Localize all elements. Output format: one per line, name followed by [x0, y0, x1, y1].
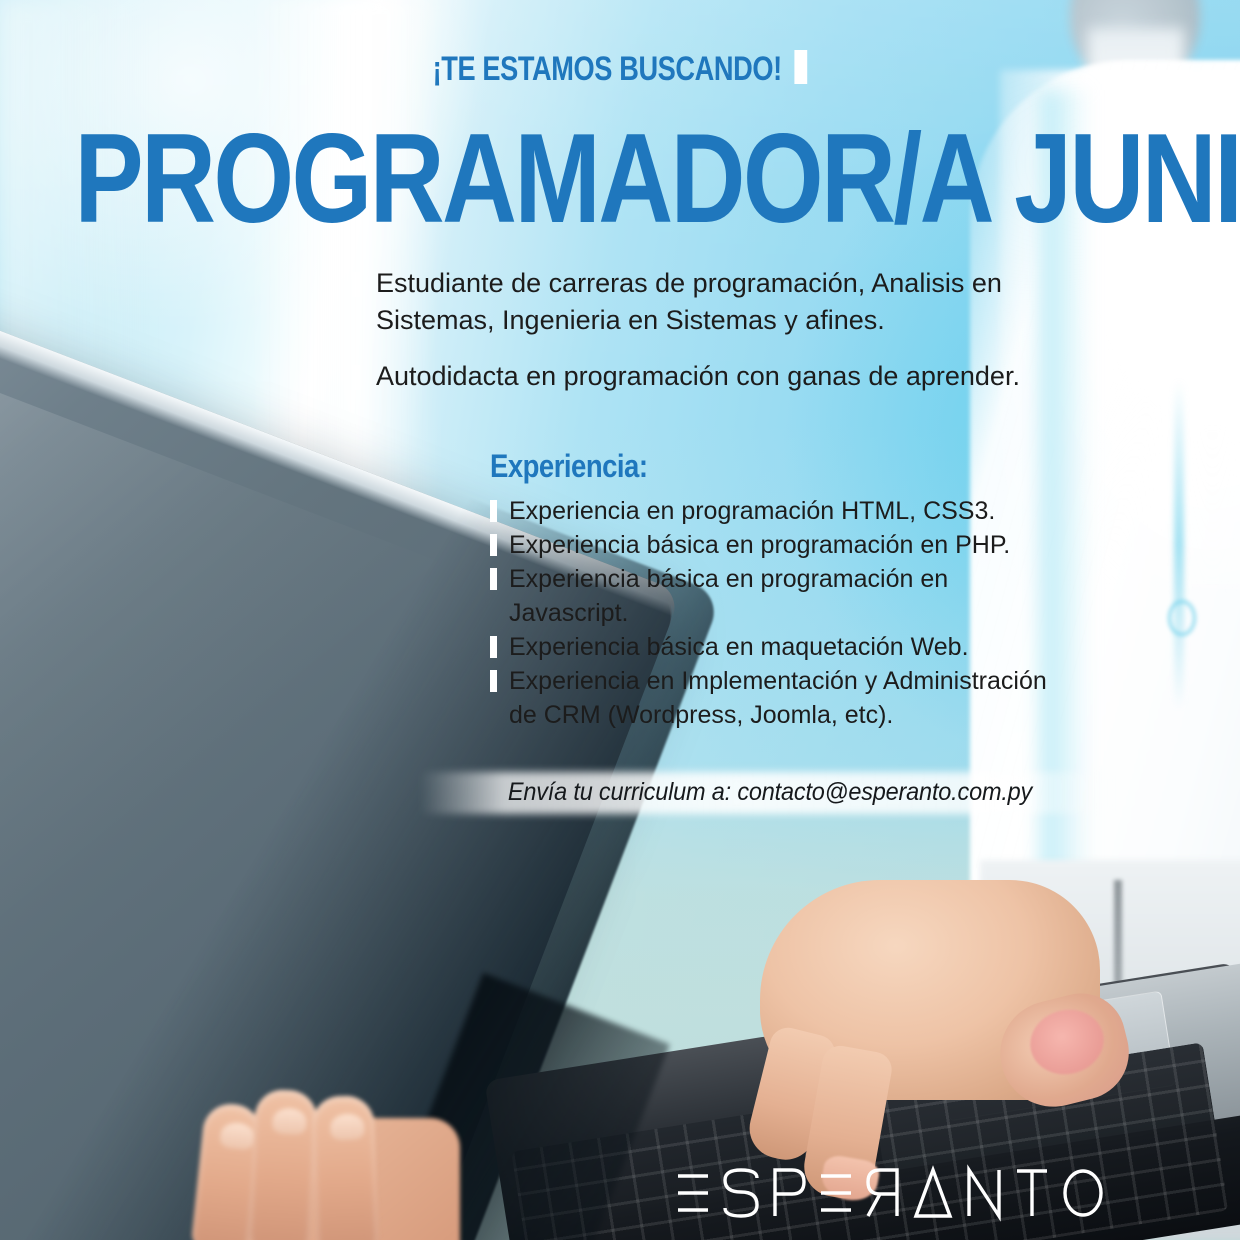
logo-letter-a-triangle	[913, 1168, 953, 1218]
contact-line: Envía tu curriculum a: contacto@esperant…	[441, 778, 1099, 807]
logo-letter-t	[1015, 1168, 1049, 1218]
list-item: Experiencia en Implementación y Administ…	[490, 664, 1050, 698]
bullet-bar-icon	[490, 500, 497, 522]
bullet-bar-icon	[490, 534, 497, 556]
list-item: Estudiante de carreras de programación, …	[352, 265, 1052, 340]
person-shirt-fold	[1174, 380, 1184, 710]
fingernail	[330, 1113, 365, 1140]
page-title: PROGRAMADOR/A JUNIOR	[74, 115, 1165, 242]
list-item-label: Experiencia básica en programación en PH…	[509, 531, 1010, 559]
list-item: Autodidacta en programación con ganas de…	[352, 358, 1052, 395]
bullet-bar-icon	[490, 670, 497, 692]
person-shirt-detail	[1168, 600, 1196, 636]
list-item: Experiencia básica en maquetación Web.	[490, 630, 1050, 664]
logo-letter-e	[676, 1168, 710, 1218]
bullet-bar-icon	[490, 568, 497, 590]
bullet-bar-icon	[490, 636, 497, 658]
bullet-bar-icon	[352, 272, 360, 297]
job-posting-poster: ¡TE ESTAMOS BUSCANDO! PROGRAMADOR/A JUNI…	[0, 0, 1240, 1240]
logo-letter-p	[772, 1168, 806, 1218]
list-item-label: Experiencia básica en maquetación Web.	[509, 633, 969, 661]
list-item-label: Estudiante de carreras de programación, …	[376, 268, 1002, 335]
fingernail	[272, 1107, 307, 1135]
bullet-bar-icon	[352, 365, 360, 390]
logo-letter-s	[723, 1168, 759, 1218]
experience-heading: Experiencia:	[490, 448, 972, 485]
list-item: Experiencia en programación HTML, CSS3.	[490, 494, 1050, 528]
finger	[311, 1095, 378, 1240]
list-item-label: Autodidacta en programación con ganas de…	[376, 361, 1020, 391]
eyebrow-text: ¡TE ESTAMOS BUSCANDO!	[433, 50, 782, 88]
eyebrow-line: ¡TE ESTAMOS BUSCANDO!	[124, 50, 1116, 89]
accent-block-icon	[795, 50, 808, 84]
finger	[248, 1088, 318, 1240]
list-item-label: Experiencia básica en programación en Ja…	[509, 565, 948, 627]
logo-letter-o	[1062, 1168, 1104, 1218]
list-item-continuation: de CRM (Wordpress, Joomla, etc).	[490, 698, 1050, 732]
list-item: Experiencia básica en programación en Ja…	[490, 562, 1050, 630]
list-item-label: Experiencia en programación HTML, CSS3.	[509, 497, 995, 525]
requirements-list: Estudiante de carreras de programación, …	[352, 265, 1052, 413]
experience-section: Experiencia: Experiencia en programación…	[490, 448, 1050, 732]
logo-letter-r-mirrored	[866, 1168, 900, 1218]
logo-letter-n	[966, 1168, 1002, 1218]
fingernail	[219, 1121, 256, 1150]
esperanto-logo	[676, 1164, 1104, 1222]
list-item-label: Experiencia en Implementación y Administ…	[509, 667, 1047, 695]
experience-list: Experiencia en programación HTML, CSS3. …	[490, 494, 1050, 732]
left-hand-holding-lid	[190, 1090, 470, 1240]
logo-letter-e-2	[819, 1168, 853, 1218]
list-item: Experiencia básica en programación en PH…	[490, 528, 1050, 562]
